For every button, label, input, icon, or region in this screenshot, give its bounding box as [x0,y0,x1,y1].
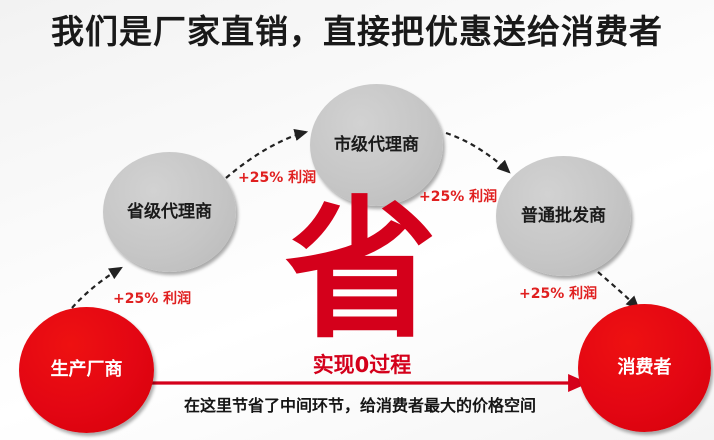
node-consumer-label: 消费者 [618,358,672,378]
edge-wholesale-to-consumer [598,272,638,308]
node-wholesaler[interactable]: 普通批发商 [496,156,631,276]
profit-label-wholesale-consumer: +25% 利润 [519,283,597,303]
bottom-caption: 在这里节省了中间环节，给消费者最大的价格空间 [110,392,610,416]
zero-process-claim: 实现0过程 [262,349,462,379]
node-wholesaler-label: 普通批发商 [521,207,606,226]
big-save-character: 省 [281,196,441,346]
promo-poster: 我们是厂家直销，直接把优惠送给消费者 省级代理商 市级代理商 普通批发商 [0,0,714,440]
edge-city-to-wholesale [446,133,509,172]
profit-label-maker-provincial: +25% 利润 [113,288,191,308]
node-manufacturer-label: 生产厂商 [51,360,123,380]
node-city-agent-label: 市级代理商 [334,136,419,155]
node-provincial-agent-label: 省级代理商 [127,203,212,222]
node-provincial-agent[interactable]: 省级代理商 [103,152,236,272]
